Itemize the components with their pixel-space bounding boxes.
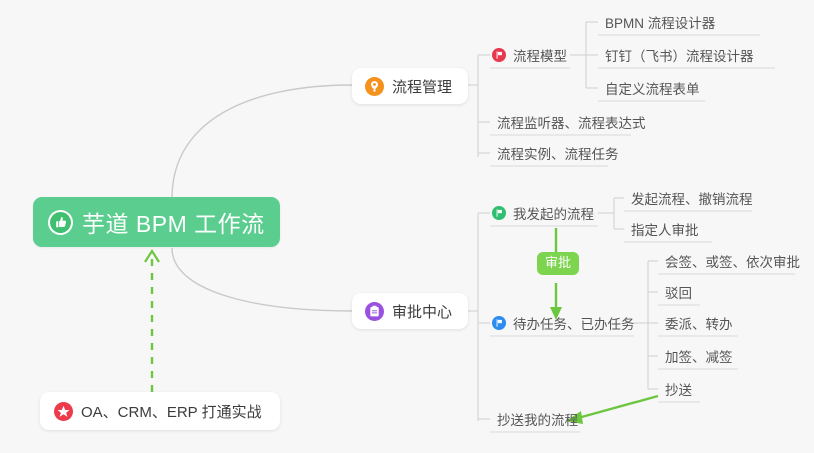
leaf-label-todo-done-task: 待办任务、已办任务 xyxy=(513,313,635,333)
leaf-label-assigned-approval: 指定人审批 xyxy=(631,219,699,239)
clipboard-icon xyxy=(365,302,384,321)
link-root-to-approval-center xyxy=(172,248,352,311)
leaf-delegate-transfer[interactable]: 委派、转办 xyxy=(658,310,742,336)
leaf-countersign[interactable]: 会签、或签、依次审批 xyxy=(658,248,809,274)
leaf-bpmn-designer[interactable]: BPMN 流程设计器 xyxy=(598,9,724,35)
leaf-dingtalk-designer[interactable]: 钉钉（飞书）流程设计器 xyxy=(598,42,763,68)
integration-dashed-arrow xyxy=(145,251,159,392)
link-root-to-process-mgmt xyxy=(172,85,352,198)
cc-arrow-shaft xyxy=(578,396,658,418)
mindmap-canvas: 芋道 BPM 工作流 流程管理 流程模型 流程监听器、流程表达式 流程实例、流 xyxy=(0,0,814,453)
leaf-label-add-remove-sign: 加签、减签 xyxy=(665,346,733,366)
leaf-todo-done-task[interactable]: 待办任务、已办任务 xyxy=(486,310,644,336)
leaf-label-delegate-transfer: 委派、转办 xyxy=(665,313,733,333)
approval-badge: 审批 xyxy=(537,252,579,275)
branch-label-approval-center: 审批中心 xyxy=(392,301,452,322)
leaf-label-process-listener: 流程监听器、流程表达式 xyxy=(497,112,646,132)
leaf-start-cancel-process[interactable]: 发起流程、撤销流程 xyxy=(624,185,762,211)
leaf-label-process-model: 流程模型 xyxy=(513,45,567,65)
leaf-process-model[interactable]: 流程模型 xyxy=(486,42,576,68)
leaf-label-my-initiated-process: 我发起的流程 xyxy=(513,203,594,223)
leaf-label-reject: 驳回 xyxy=(665,282,692,302)
leaf-label-cc-to-me-process: 抄送我的流程 xyxy=(497,409,578,429)
leaf-label-countersign: 会签、或签、依次审批 xyxy=(665,251,800,271)
leaf-label-custom-process-form: 自定义流程表单 xyxy=(605,78,700,98)
leaf-assigned-approval[interactable]: 指定人审批 xyxy=(624,216,708,242)
green-flag-icon xyxy=(492,206,506,220)
leaf-custom-process-form[interactable]: 自定义流程表单 xyxy=(598,75,709,101)
leaf-carbon-copy[interactable]: 抄送 xyxy=(658,376,701,402)
leaf-cc-to-me-process[interactable]: 抄送我的流程 xyxy=(490,406,587,432)
leaf-add-remove-sign[interactable]: 加签、减签 xyxy=(658,343,742,369)
approval-badge-label: 审批 xyxy=(545,255,571,270)
blue-flag-icon xyxy=(492,316,506,330)
branch-label-process-mgmt: 流程管理 xyxy=(392,76,452,97)
integration-node[interactable]: OA、CRM、ERP 打通实战 xyxy=(40,392,280,430)
leaf-label-dingtalk-designer: 钉钉（飞书）流程设计器 xyxy=(605,45,754,65)
red-star-icon xyxy=(54,402,73,421)
leaf-label-process-instance: 流程实例、流程任务 xyxy=(497,143,619,163)
integration-node-label: OA、CRM、ERP 打通实战 xyxy=(81,401,262,422)
branch-node-process-mgmt[interactable]: 流程管理 xyxy=(352,68,468,104)
leaf-process-instance[interactable]: 流程实例、流程任务 xyxy=(490,140,628,166)
leaf-label-start-cancel-process: 发起流程、撤销流程 xyxy=(631,188,753,208)
branch-node-approval-center[interactable]: 审批中心 xyxy=(352,293,468,329)
leaf-reject[interactable]: 驳回 xyxy=(658,279,701,305)
red-flag-icon xyxy=(492,48,506,62)
thumbs-up-icon xyxy=(48,210,73,235)
leaf-my-initiated-process[interactable]: 我发起的流程 xyxy=(486,200,603,226)
leaf-label-carbon-copy: 抄送 xyxy=(665,379,692,399)
leaf-process-listener[interactable]: 流程监听器、流程表达式 xyxy=(490,109,655,135)
root-label: 芋道 BPM 工作流 xyxy=(82,205,265,239)
integration-dashed-head xyxy=(145,251,159,262)
root-node[interactable]: 芋道 BPM 工作流 xyxy=(33,197,280,247)
location-pin-icon xyxy=(365,77,384,96)
leaf-label-bpmn-designer: BPMN 流程设计器 xyxy=(605,12,715,32)
